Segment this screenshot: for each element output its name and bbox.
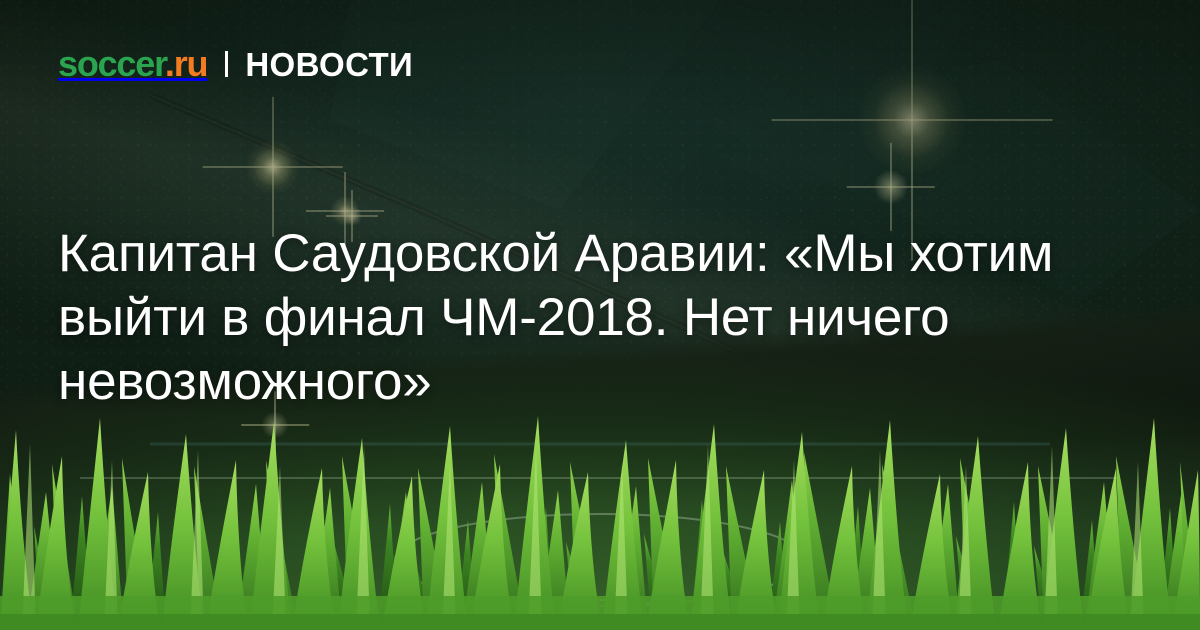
logo-name-text: soccer (58, 43, 165, 84)
floodlight-flare-icon (874, 170, 908, 204)
header-separator-icon (225, 51, 228, 77)
page-title: Капитан Саудовской Аравии: «Мы хотим вый… (58, 222, 1098, 414)
logo-domain-text: .ru (165, 43, 207, 84)
news-share-card: soccer.ru НОВОСТИ Капитан Саудовской Ара… (0, 0, 1200, 630)
site-logo[interactable]: soccer.ru (58, 46, 207, 82)
section-label: НОВОСТИ (245, 48, 413, 81)
site-header: soccer.ru НОВОСТИ (58, 46, 413, 82)
floodlight-flare-icon (246, 140, 300, 194)
floodlight-flare-icon (858, 66, 966, 174)
